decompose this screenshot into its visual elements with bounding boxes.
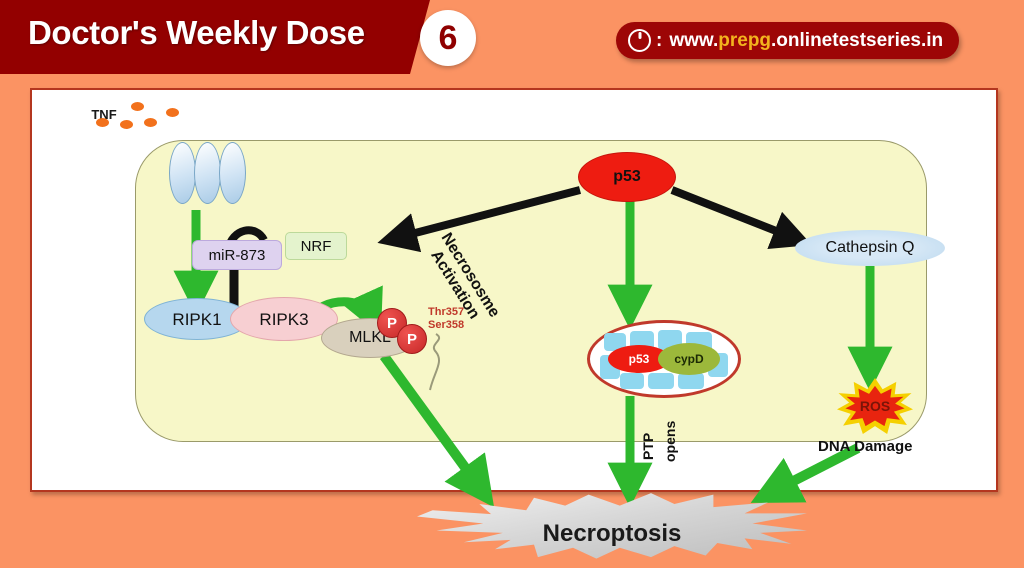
issue-number-text: 6 — [439, 21, 458, 55]
phospho-site-labels: Thr357 Ser358 — [428, 306, 464, 331]
phospho-group-2: P — [397, 324, 427, 354]
page-root: Doctor's Weekly Dose 6 : www.prepg.onlin… — [0, 0, 1024, 512]
node-ros: ROS — [837, 378, 913, 434]
website-url-pill[interactable]: : www.prepg.onlinetestseries.in — [616, 22, 959, 59]
dna-damage-label: DNA Damage — [818, 438, 912, 455]
tnf-dot — [144, 118, 157, 127]
tnf-dot — [96, 118, 109, 127]
arrow-p53-to-necrosome — [396, 190, 580, 238]
ptp-label-line1: PTP — [640, 433, 656, 460]
issue-number-badge: 6 — [420, 10, 476, 66]
ros-label: ROS — [860, 398, 890, 414]
mitochondrial-cypd: cypD — [658, 343, 720, 375]
phospho-site-ser358: Ser358 — [428, 319, 464, 332]
node-necroptosis: Necroptosis — [417, 490, 807, 568]
mitochondrion: p53 cypD — [587, 320, 741, 398]
ptp-label-line2: opens — [662, 421, 678, 462]
tnf-dot — [131, 102, 144, 111]
mouse-pointer-icon — [628, 29, 651, 52]
necroptosis-label: Necroptosis — [417, 520, 807, 548]
node-nrf[interactable]: NRF — [285, 232, 347, 260]
tnf-dot — [120, 120, 133, 129]
figure-card: TNF miR-873 NRF RIPK1 RIPK3 MLKL P P Thr… — [30, 88, 998, 492]
node-cathepsin-q[interactable]: Cathepsin Q — [795, 230, 945, 266]
arrow-mlkl-to-necroptosis — [384, 356, 480, 488]
crista — [620, 373, 644, 389]
node-mir873[interactable]: miR-873 — [192, 240, 282, 270]
page-title: Doctor's Weekly Dose — [28, 14, 365, 52]
necrosome-brace — [430, 334, 439, 390]
url-prefix: www. — [669, 30, 718, 51]
tnf-dot — [166, 108, 179, 117]
tnf-receptor-lobe — [219, 142, 246, 204]
url-brand: prepg — [718, 30, 771, 51]
url-suffix: .onlinetestseries.in — [771, 30, 943, 51]
tnf-receptor-lobe — [194, 142, 221, 204]
arrow-p53-to-cathepsin — [672, 190, 794, 238]
crista — [678, 373, 704, 389]
url-colon: : — [656, 30, 662, 52]
crista — [648, 373, 674, 389]
tnf-receptor-lobe — [169, 142, 196, 204]
node-p53[interactable]: p53 — [578, 152, 676, 202]
website-url[interactable]: www.prepg.onlinetestseries.in — [669, 30, 943, 52]
